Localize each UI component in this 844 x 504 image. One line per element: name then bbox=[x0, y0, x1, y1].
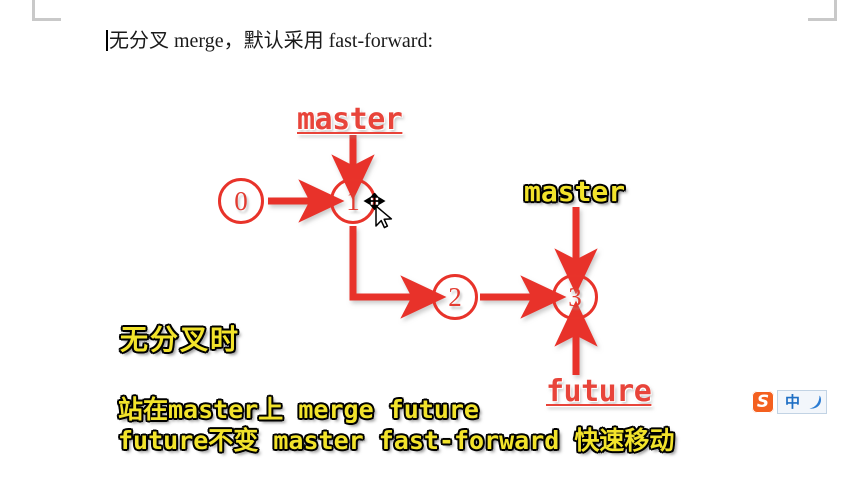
commit-node-0-label: 0 bbox=[234, 188, 248, 215]
sogou-logo-icon[interactable]: S bbox=[752, 391, 774, 413]
ime-status-panel[interactable]: 中 bbox=[777, 390, 827, 414]
screen-capture: 无分叉 merge，默认采用 fast-forward: bbox=[0, 0, 844, 504]
commit-node-3[interactable]: 3 bbox=[552, 274, 598, 320]
commit-node-3-label: 3 bbox=[568, 284, 582, 311]
mouse-cursor-move bbox=[363, 193, 397, 229]
text-caret bbox=[106, 30, 108, 51]
arrow-node1-to-node2 bbox=[353, 226, 422, 297]
document-heading-text: 无分叉 merge，默认采用 fast-forward: bbox=[109, 30, 433, 52]
branch-label-future[interactable]: future bbox=[546, 374, 651, 409]
branch-label-master-right[interactable]: master bbox=[524, 175, 625, 208]
crescent-moon-icon[interactable] bbox=[807, 394, 822, 410]
branch-label-master-top[interactable]: master bbox=[297, 102, 402, 137]
document-heading-line[interactable]: 无分叉 merge，默认采用 fast-forward: bbox=[106, 28, 433, 54]
page-corner-mark-top-left bbox=[32, 0, 61, 21]
caption-heading: 无分叉时 bbox=[120, 318, 240, 358]
commit-node-2-label: 2 bbox=[448, 284, 462, 311]
page-corner-mark-top-right bbox=[808, 0, 837, 21]
sogou-ime-toolbar[interactable]: S 中 bbox=[752, 390, 827, 414]
commit-node-2[interactable]: 2 bbox=[432, 274, 478, 320]
commit-node-1-label: 1 bbox=[346, 188, 360, 215]
ime-language-mode-toggle[interactable]: 中 bbox=[782, 392, 803, 412]
caption-line-2: future不变 master fast-forward 快速移动 bbox=[118, 421, 674, 457]
commit-node-0[interactable]: 0 bbox=[218, 178, 264, 224]
